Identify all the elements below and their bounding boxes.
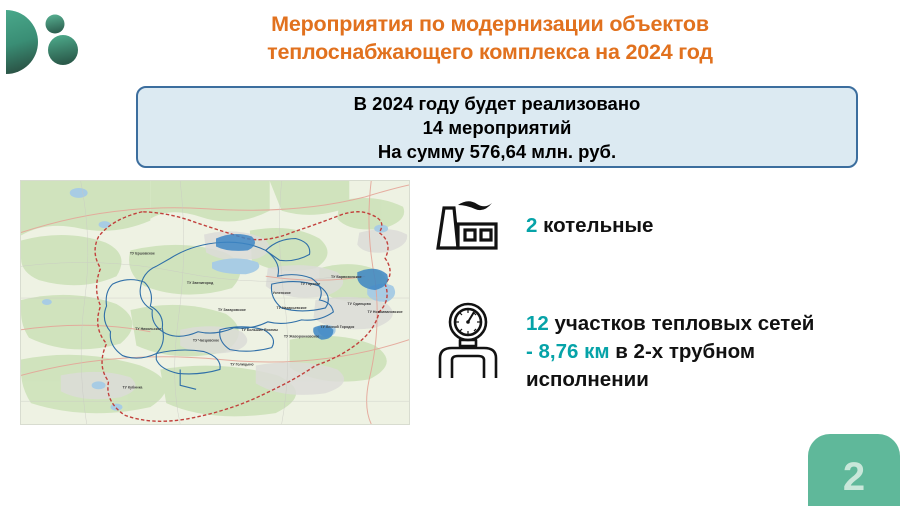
factory-window-2 (481, 230, 491, 240)
map-label-zakharovskoe: ТУ Захаровское (218, 308, 246, 312)
factory-boiler-icon (432, 196, 504, 256)
logo-half-disc (6, 10, 38, 74)
map-label-chastsovskoe: ТУ Часцовское (193, 339, 219, 343)
stat-networks-value-2: - 8,76 км (526, 340, 610, 363)
gauge-hub (466, 320, 470, 324)
stat-boilers-text: 2 котельные (526, 194, 653, 240)
page-title-line-1: Мероприятия по модернизации объектов (150, 10, 830, 38)
stat-networks-label-2: в 2-х трубном (610, 340, 755, 363)
stat-networks-value: 12 (526, 312, 549, 335)
logo-svg (6, 6, 110, 78)
district-map-svg: ТУ Ершовское ТУ Звенигород ТУ Захаровско… (21, 181, 409, 424)
summary-line-2: 14 мероприятий (423, 116, 572, 140)
map-label-zvenigorod: ТУ Звенигород (187, 281, 214, 285)
slide-canvas: Мероприятия по модернизации объектов теп… (0, 0, 900, 506)
page-title-line-2: теплоснабжающего комплекса на 2024 год (150, 38, 830, 66)
logo-small-circle (46, 15, 65, 34)
map-label-gorskoe: ТУ Горское (301, 282, 320, 286)
summary-line-1: В 2024 году будет реализовано (354, 92, 641, 116)
map-label-kubinka: ТУ Кубинка (122, 385, 142, 389)
stat-boilers-value: 2 (526, 214, 537, 237)
factory-chimney (438, 208, 458, 248)
factory-boiler-svg (432, 196, 504, 256)
company-logo (6, 6, 110, 78)
map-label-golitsyno: ТУ Голицыно (230, 362, 254, 366)
page-title: Мероприятия по модернизации объектов теп… (150, 10, 830, 66)
map-label-bolshie-vyazemy: ТУ Большие Вяземы (241, 328, 278, 332)
page-number: 2 (843, 443, 865, 497)
map-label-nikolskoe: ТУ Никольское (135, 327, 161, 331)
pipe-body (440, 348, 496, 378)
map-label-nazarevskoe: ТУ Назарьевское (277, 306, 307, 310)
stat-networks-text: 12 участков тепловых сетей - 8,76 км в 2… (526, 298, 814, 394)
pipe-gauge-icon (432, 300, 504, 382)
stat-boilers-label: котельные (537, 214, 653, 237)
summary-callout-box: В 2024 году будет реализовано 14 меропри… (136, 86, 858, 168)
stat-networks-label-3: исполнении (526, 368, 649, 391)
map-label-zhavoronkovskoe: ТУ Жаворонковское (284, 335, 319, 339)
pipe-inner (452, 356, 484, 378)
factory-window-1 (465, 230, 475, 240)
map-label-odintsovo: ТУ Одинцово (348, 302, 372, 306)
map-label-lesnoy-gorodok: ТУ Лесной Городок (320, 325, 354, 329)
map-label-barvikhinskoe: ТУ Барвихинское (331, 275, 362, 279)
summary-line-3: На сумму 576,64 млн. руб. (378, 140, 616, 164)
factory-smoke (458, 201, 492, 210)
pipe-gauge-svg (432, 300, 504, 382)
stat-networks-label-1: участков тепловых сетей (549, 312, 815, 335)
map-label-ershovskoe: ТУ Ершовское (130, 251, 155, 255)
map-label-novoivanovskoe: ТУ Новоивановское (368, 310, 403, 314)
page-number-badge: 2 (808, 434, 900, 506)
stat-networks: 12 участков тепловых сетей - 8,76 км в 2… (432, 298, 814, 394)
stat-boilers: 2 котельные (432, 194, 653, 256)
logo-large-circle (48, 35, 78, 65)
district-map[interactable]: ТУ Ершовское ТУ Звенигород ТУ Захаровско… (20, 180, 410, 425)
gauge-neck (460, 340, 476, 346)
map-label-uspenskoe: Успенское (273, 291, 291, 295)
